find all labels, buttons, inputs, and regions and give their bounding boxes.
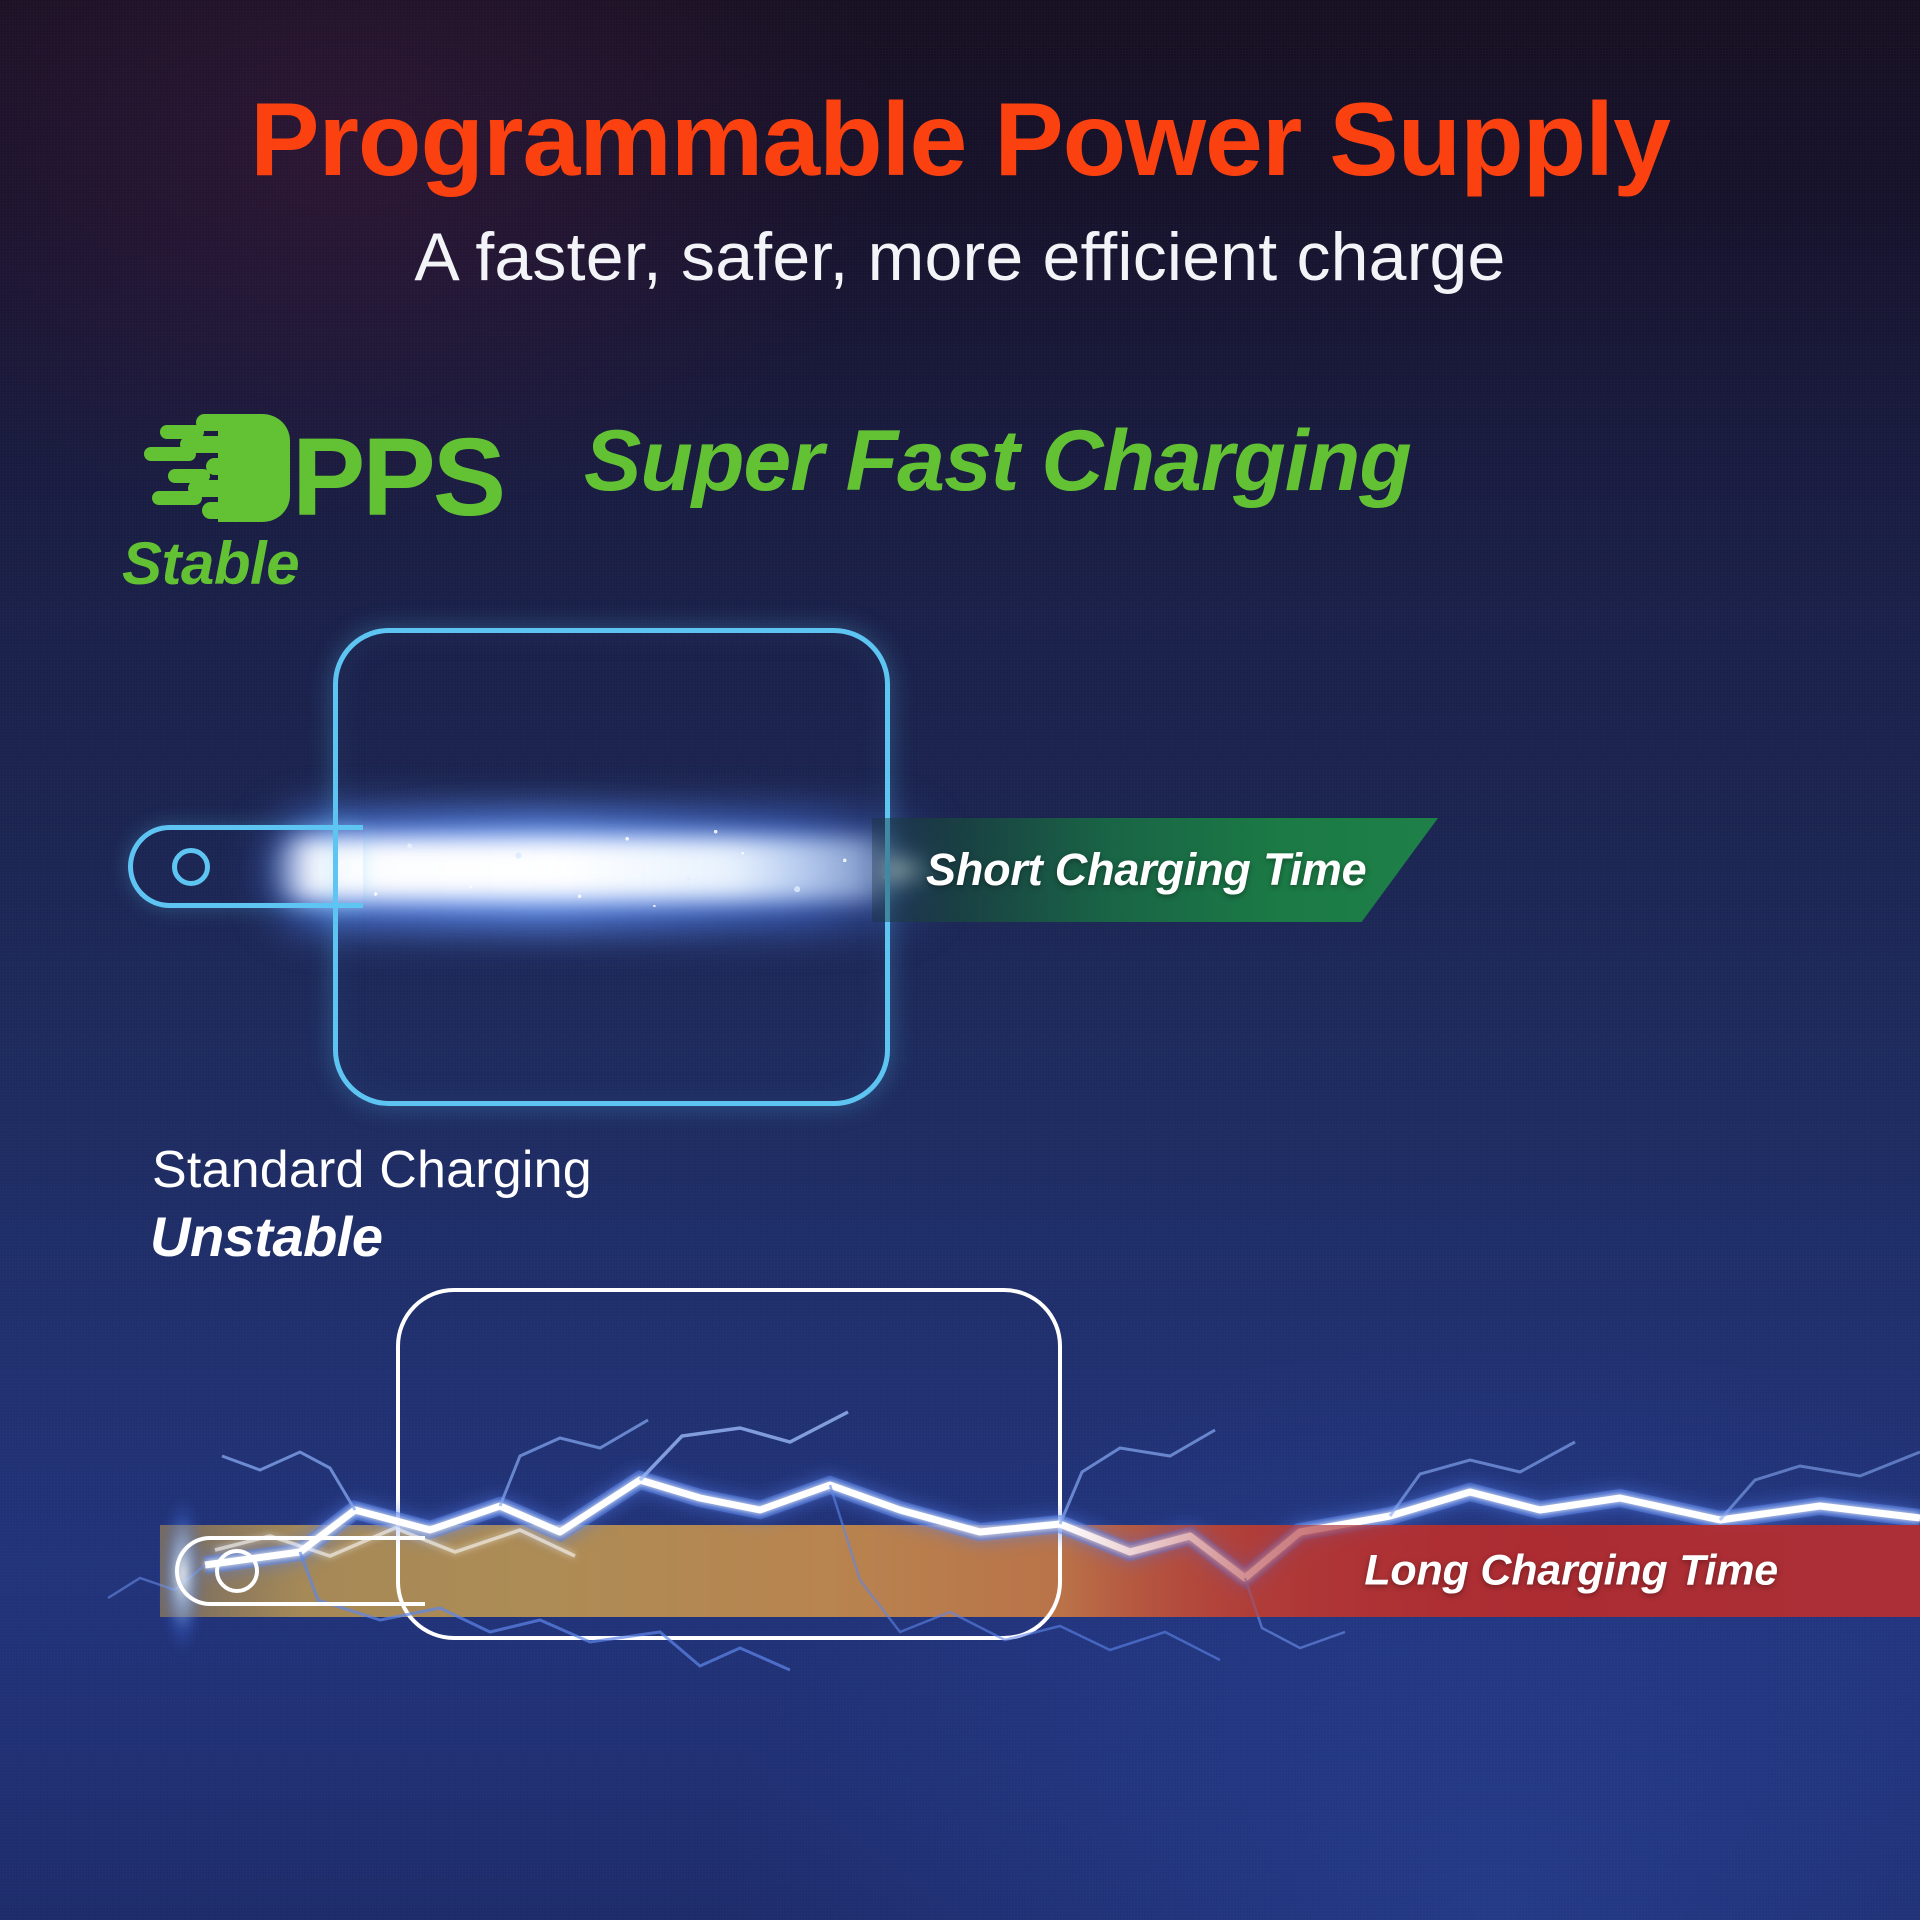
banner-long-charging-time: Long Charging Time: [1060, 1525, 1920, 1617]
banner-short-charging-time-label: Short Charging Time: [926, 844, 1366, 896]
charger-prong-hole-fast: [172, 848, 210, 886]
pps-stable-label: Stable: [122, 534, 299, 594]
charger-prong-fast: [128, 825, 363, 908]
charger-prong-standard: [175, 1536, 425, 1606]
banner-long-charging-time-label: Long Charging Time: [1364, 1547, 1778, 1596]
standard-charging-label: Standard Charging: [152, 1140, 592, 1201]
infographic-canvas: Programmable Power Supply A faster, safe…: [0, 0, 1920, 1920]
page-subtitle: A faster, safer, more efficient charge: [0, 220, 1920, 295]
charger-outline-fast: [333, 628, 890, 1106]
charger-outline-standard: [396, 1288, 1062, 1640]
speed-lines-icon: [118, 408, 318, 528]
standard-unstable-label: Unstable: [150, 1206, 383, 1268]
page-title: Programmable Power Supply: [0, 86, 1920, 194]
super-fast-charging-headline: Super Fast Charging: [584, 418, 1411, 504]
charger-prong-hole-standard: [215, 1549, 259, 1593]
banner-short-charging-time: Short Charging Time: [872, 818, 1438, 922]
pps-wordmark: PPS: [292, 427, 503, 528]
pps-logo-group: PPS: [118, 408, 503, 528]
